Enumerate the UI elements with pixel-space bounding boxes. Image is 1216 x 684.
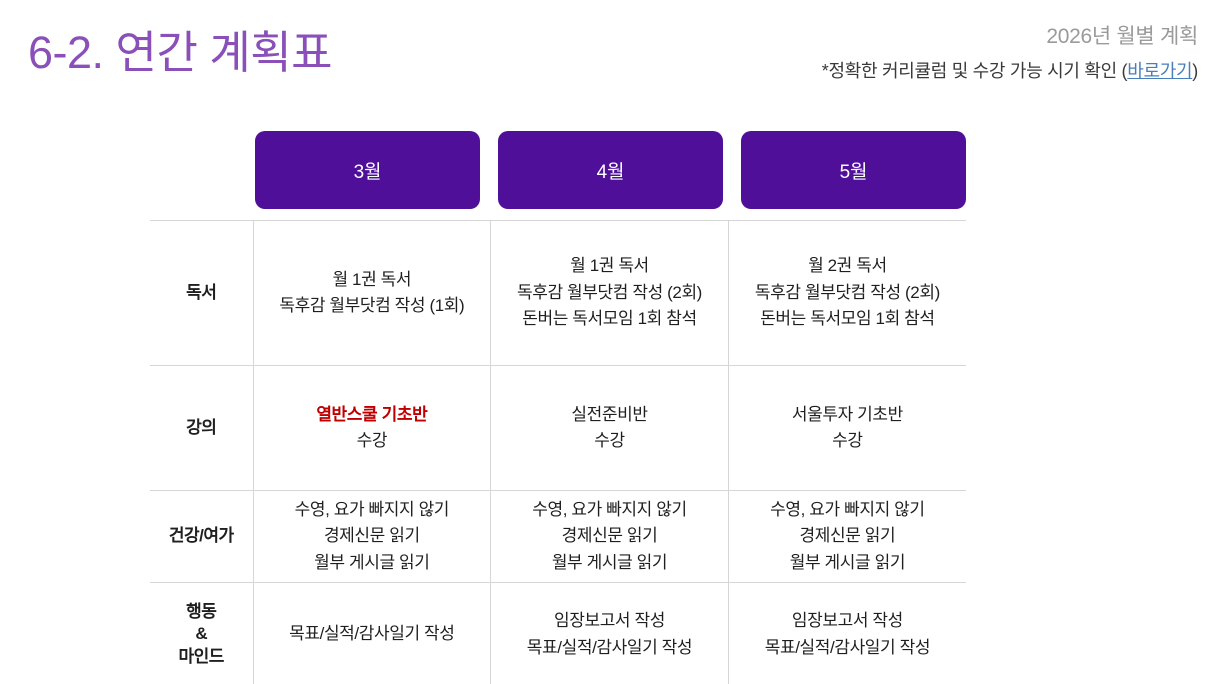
row-category-cell: 건강/여가 [150,491,253,583]
plan-line: 임장보고서 작성 [733,608,962,634]
plan-cell: 수영, 요가 빠지지 않기경제신문 읽기월부 게시글 읽기 [491,491,729,583]
plan-cell: 목표/실적/감사일기 작성 [253,583,491,684]
plan-line: 목표/실적/감사일기 작성 [733,635,962,661]
category-line: 강의 [154,417,249,439]
table-row: 독서월 1권 독서독후감 월부닷컴 작성 (1회)월 1권 독서독후감 월부닷컴… [150,221,966,366]
plan-line-highlighted: 열반스쿨 기초반 [258,402,487,428]
curriculum-note: *정확한 커리큘럼 및 수강 가능 시기 확인 (바로가기) [822,61,1198,83]
plan-cell: 임장보고서 작성목표/실적/감사일기 작성 [491,583,729,684]
plan-cell: 수영, 요가 빠지지 않기경제신문 읽기월부 게시글 읽기 [728,491,966,583]
plan-cell: 월 2권 독서독후감 월부닷컴 작성 (2회)돈버는 독서모임 1회 참석 [728,221,966,366]
month-chip-label-2: 4월 [597,157,625,184]
category-line: 독서 [154,282,249,304]
subtitle: 2026년 월별 계획 [822,24,1198,49]
plan-cell: 실전준비반수강 [491,366,729,491]
plan-line: 수강 [495,428,724,454]
table-row: 건강/여가수영, 요가 빠지지 않기경제신문 읽기월부 게시글 읽기수영, 요가… [150,491,966,583]
plan-line: 월 1권 독서 [258,267,487,293]
slide-root: 6-2. 연간 계획표 2026년 월별 계획 *정확한 커리큘럼 및 수강 가… [0,0,1216,684]
plan-line: 경제신문 읽기 [258,523,487,549]
row-category-cell: 강의 [150,366,253,491]
plan-line: 월부 게시글 읽기 [733,550,962,576]
plan-line: 경제신문 읽기 [733,523,962,549]
note-suffix-text: ) [1192,61,1198,81]
plan-cell: 열반스쿨 기초반수강 [253,366,491,491]
month-chip-3: 5월 [741,131,966,209]
plan-line: 독후감 월부닷컴 작성 (1회) [258,293,487,319]
month-chip-label-1: 3월 [354,157,382,184]
plan-line: 경제신문 읽기 [495,523,724,549]
table-row: 행동&마인드목표/실적/감사일기 작성임장보고서 작성목표/실적/감사일기 작성… [150,583,966,684]
plan-line: 수강 [258,428,487,454]
page-title: 6-2. 연간 계획표 [28,16,332,81]
month-chip-2: 4월 [498,131,723,209]
header-right-block: 2026년 월별 계획 *정확한 커리큘럼 및 수강 가능 시기 확인 (바로가… [822,24,1198,83]
category-line: 건강/여가 [154,525,249,547]
annual-plan-table: 독서월 1권 독서독후감 월부닷컴 작성 (1회)월 1권 독서독후감 월부닷컴… [150,220,966,684]
plan-line: 실전준비반 [495,402,724,428]
plan-cell: 월 1권 독서독후감 월부닷컴 작성 (2회)돈버는 독서모임 1회 참석 [491,221,729,366]
plan-cell: 월 1권 독서독후감 월부닷컴 작성 (1회) [253,221,491,366]
plan-cell: 서울투자 기초반수강 [728,366,966,491]
plan-line: 월부 게시글 읽기 [495,550,724,576]
plan-line: 수영, 요가 빠지지 않기 [258,497,487,523]
plan-line: 수영, 요가 빠지지 않기 [495,497,724,523]
plan-cell: 임장보고서 작성목표/실적/감사일기 작성 [728,583,966,684]
plan-line: 월 1권 독서 [495,253,724,279]
plan-line: 월 2권 독서 [733,253,962,279]
plan-line: 목표/실적/감사일기 작성 [258,621,487,647]
plan-table-body: 독서월 1권 독서독후감 월부닷컴 작성 (1회)월 1권 독서독후감 월부닷컴… [150,221,966,684]
category-line: 행동 [154,601,249,623]
plan-line: 수강 [733,428,962,454]
table-row: 강의열반스쿨 기초반수강실전준비반수강서울투자 기초반수강 [150,366,966,491]
plan-line: 수영, 요가 빠지지 않기 [733,497,962,523]
plan-cell: 수영, 요가 빠지지 않기경제신문 읽기월부 게시글 읽기 [253,491,491,583]
curriculum-link[interactable]: 바로가기 [1127,61,1192,81]
plan-line: 돈버는 독서모임 1회 참석 [495,306,724,332]
category-line: & [154,623,249,645]
month-chip-1: 3월 [255,131,480,209]
category-line: 마인드 [154,646,249,668]
plan-line: 서울투자 기초반 [733,402,962,428]
plan-line: 임장보고서 작성 [495,608,724,634]
row-category-cell: 독서 [150,221,253,366]
row-category-cell: 행동&마인드 [150,583,253,684]
plan-line: 돈버는 독서모임 1회 참석 [733,306,962,332]
note-prefix-text: *정확한 커리큘럼 및 수강 가능 시기 확인 ( [822,61,1127,81]
month-chip-label-3: 5월 [840,157,868,184]
month-header-row: 3월 4월 5월 [255,131,966,209]
plan-line: 목표/실적/감사일기 작성 [495,635,724,661]
plan-line: 독후감 월부닷컴 작성 (2회) [733,280,962,306]
plan-line: 독후감 월부닷컴 작성 (2회) [495,280,724,306]
plan-line: 월부 게시글 읽기 [258,550,487,576]
